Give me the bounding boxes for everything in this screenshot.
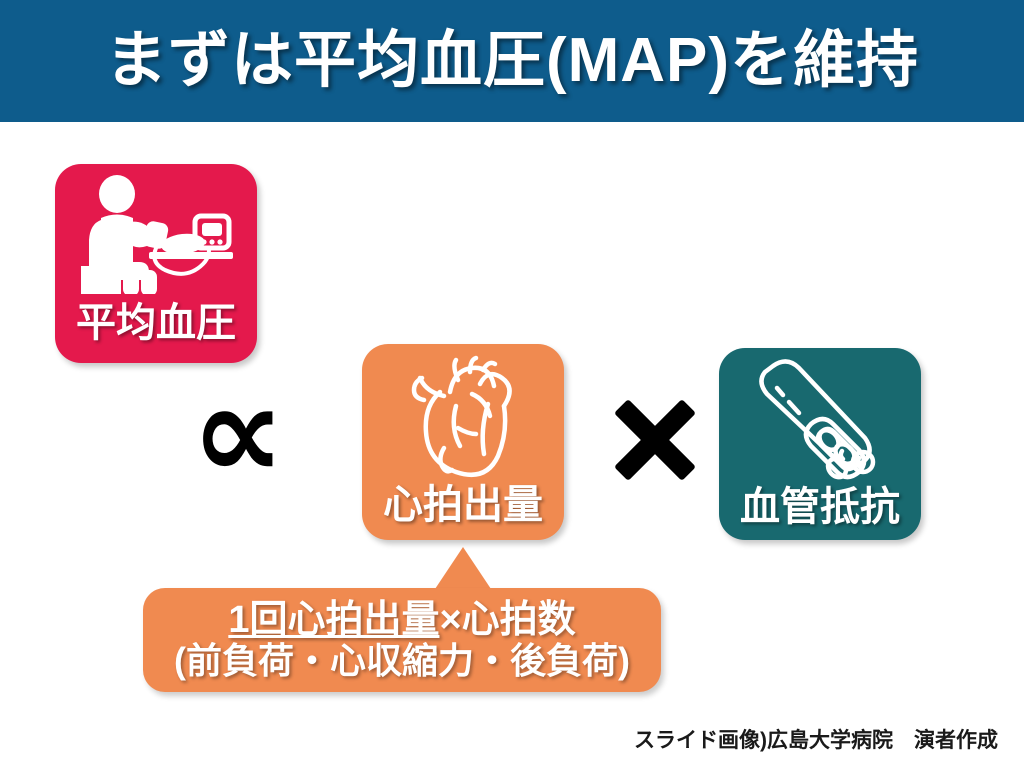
multiplication-icon <box>603 388 707 492</box>
callout-heart-rate-term: ×心拍数 <box>439 599 575 641</box>
card-mean-arterial-pressure[interactable]: 平均血圧 <box>55 164 257 363</box>
page-title: まずは平均血圧(MAP)を維持 <box>105 30 919 92</box>
anatomical-heart-icon <box>388 354 538 483</box>
footer-credit: スライド画像)広島大学病院 演者作成 <box>634 724 998 754</box>
callout-stroke-volume-term: 1回心拍出量 <box>228 599 439 641</box>
card-label-vascular-resistance: 血管抵抗 <box>740 487 900 527</box>
proportional-to-symbol: ∝ <box>158 383 318 483</box>
blood-vessel-cross-section-icon <box>739 358 901 485</box>
callout-line-1: 1回心拍出量×心拍数 <box>228 599 575 642</box>
callout-cardiac-output-formula: 1回心拍出量×心拍数 (前負荷・心収縮力・後負荷) <box>143 588 661 692</box>
callout-pointer-triangle <box>435 547 491 589</box>
card-vascular-resistance[interactable]: 血管抵抗 <box>719 348 921 540</box>
card-label-cardiac-output: 心拍出量 <box>383 485 543 525</box>
callout-line-2: (前負荷・心収縮力・後負荷) <box>174 641 630 681</box>
card-label-mean-arterial-pressure: 平均血圧 <box>76 303 236 343</box>
title-banner: まずは平均血圧(MAP)を維持 <box>0 0 1024 122</box>
card-cardiac-output[interactable]: 心拍出量 <box>362 344 564 540</box>
blood-pressure-monitor-icon <box>71 174 241 299</box>
